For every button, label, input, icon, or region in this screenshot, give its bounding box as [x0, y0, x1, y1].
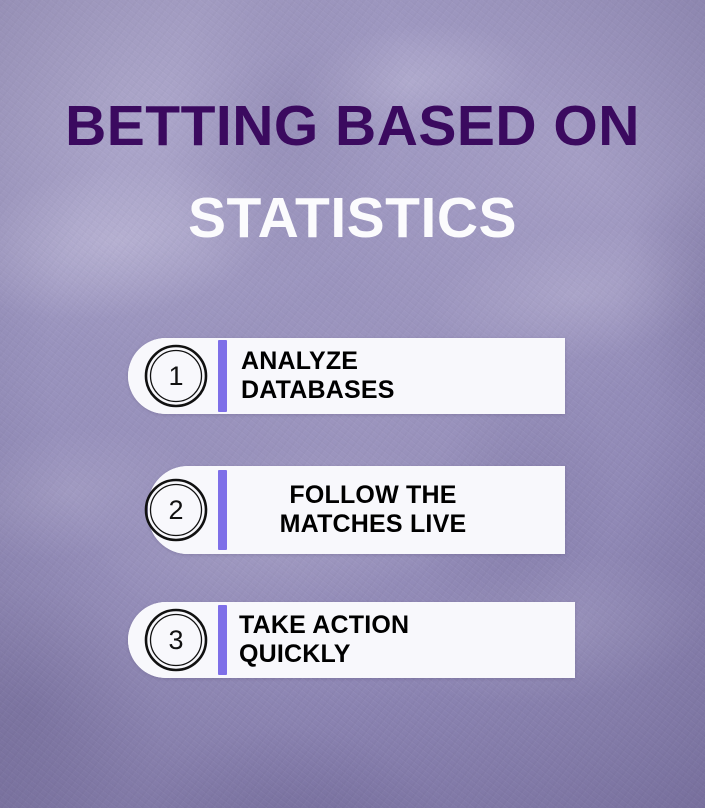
step-banner-content: 1 ANALYZE DATABASES: [128, 338, 565, 414]
step-label-line-1: TAKE ACTION QUICKLY: [239, 611, 409, 669]
title-line-secondary: STATISTICS: [0, 190, 705, 247]
page-title: BETTING BASED ON STATISTICS: [0, 98, 705, 247]
step-label-line-1: ANALYZE DATABASES: [241, 347, 395, 405]
step-banner-content: 3 TAKE ACTION QUICKLY: [128, 602, 575, 678]
step-divider-bar: [218, 470, 227, 550]
step-label: ANALYZE DATABASES: [227, 347, 565, 406]
step-number-badge: 3: [144, 608, 208, 672]
step-number-badge: 2: [144, 478, 208, 542]
step-number-label: 1: [144, 344, 208, 408]
step-divider-bar: [218, 605, 227, 675]
poster-content: BETTING BASED ON STATISTICS 1: [0, 0, 705, 808]
step-divider-bar: [218, 340, 227, 412]
title-line-primary: BETTING BASED ON: [0, 98, 705, 155]
step-banner-2[interactable]: 2 FOLLOW THE MATCHES LIVE: [148, 466, 565, 554]
step-label-line-1: FOLLOW THE: [231, 481, 515, 511]
poster-canvas: BETTING BASED ON STATISTICS 1: [0, 0, 705, 808]
step-number-label: 3: [144, 608, 208, 672]
step-label: FOLLOW THE MATCHES LIVE: [227, 481, 565, 540]
step-banner-content: 2 FOLLOW THE MATCHES LIVE: [148, 466, 565, 554]
step-label: TAKE ACTION QUICKLY: [227, 611, 575, 670]
step-number-badge: 1: [144, 344, 208, 408]
step-label-line-2: MATCHES LIVE: [231, 510, 515, 540]
step-banner-3[interactable]: 3 TAKE ACTION QUICKLY: [128, 602, 575, 678]
step-banner-1[interactable]: 1 ANALYZE DATABASES: [128, 338, 565, 414]
step-number-label: 2: [144, 478, 208, 542]
